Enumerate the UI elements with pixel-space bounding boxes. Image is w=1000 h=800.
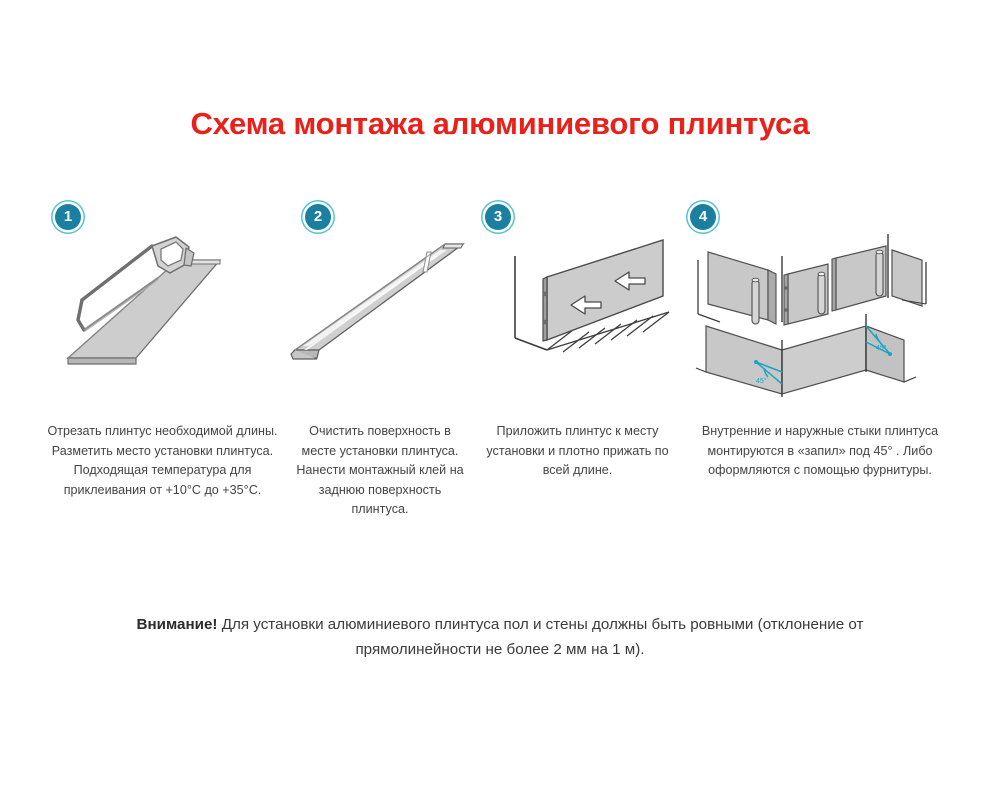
corner-joints-45-degree-icon: 45° 45° — [690, 222, 940, 402]
angle-label-inner: 45° — [756, 377, 767, 385]
notice-lead: Внимание! — [136, 616, 217, 633]
step-caption-3: Приложить плинтус к месту установки и пл… — [475, 422, 680, 481]
step-caption-2: Очистить поверхность в месте установки п… — [285, 422, 475, 520]
angle-label-outer: 45° — [876, 344, 887, 352]
step-caption-1: Отрезать плинтус необходимой длины. Разм… — [40, 422, 285, 500]
hacksaw-cutting-plinth-icon — [48, 222, 268, 377]
step-caption-4: Внутренние и наружные стыки плинтуса мон… — [680, 422, 960, 481]
aluminium-plinth-profile-icon — [277, 222, 482, 377]
press-plinth-to-wall-icon — [503, 222, 683, 372]
infographic-page: Схема монтажа алюминиевого плинтуса 1 — [0, 0, 1000, 800]
page-title: Схема монтажа алюминиевого плинтуса — [0, 106, 1000, 142]
notice-body: Для установки алюминиевого плинтуса пол … — [217, 616, 863, 658]
notice-text: Внимание! Для установки алюминиевого пли… — [78, 612, 922, 662]
